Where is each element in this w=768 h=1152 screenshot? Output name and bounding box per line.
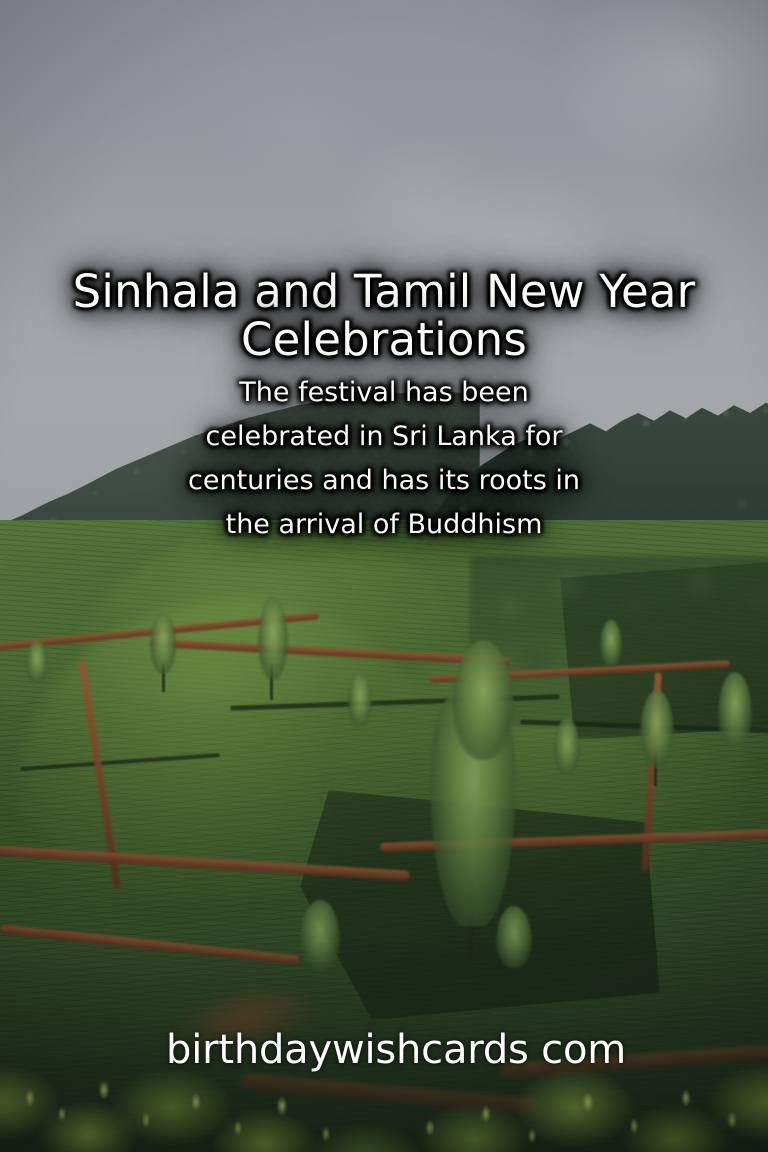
poster-card: Sinhala and Tamil New Year Celebrations … — [0, 0, 768, 1152]
subtitle-line-3: centuries and has its roots in — [150, 459, 618, 503]
subtitle-line-4: the arrival of Buddhism — [150, 503, 618, 547]
headline-block: Sinhala and Tamil New Year Celebrations … — [0, 268, 768, 546]
text-overlay: Sinhala and Tamil New Year Celebrations … — [0, 0, 768, 1152]
page-subtitle: The festival has been celebrated in Sri … — [0, 371, 768, 546]
subtitle-line-2: celebrated in Sri Lanka for — [150, 415, 618, 459]
subtitle-line-1: The festival has been — [150, 371, 618, 415]
site-watermark: birthdaywishcards com — [0, 1028, 768, 1072]
page-title: Sinhala and Tamil New Year Celebrations — [0, 268, 768, 363]
